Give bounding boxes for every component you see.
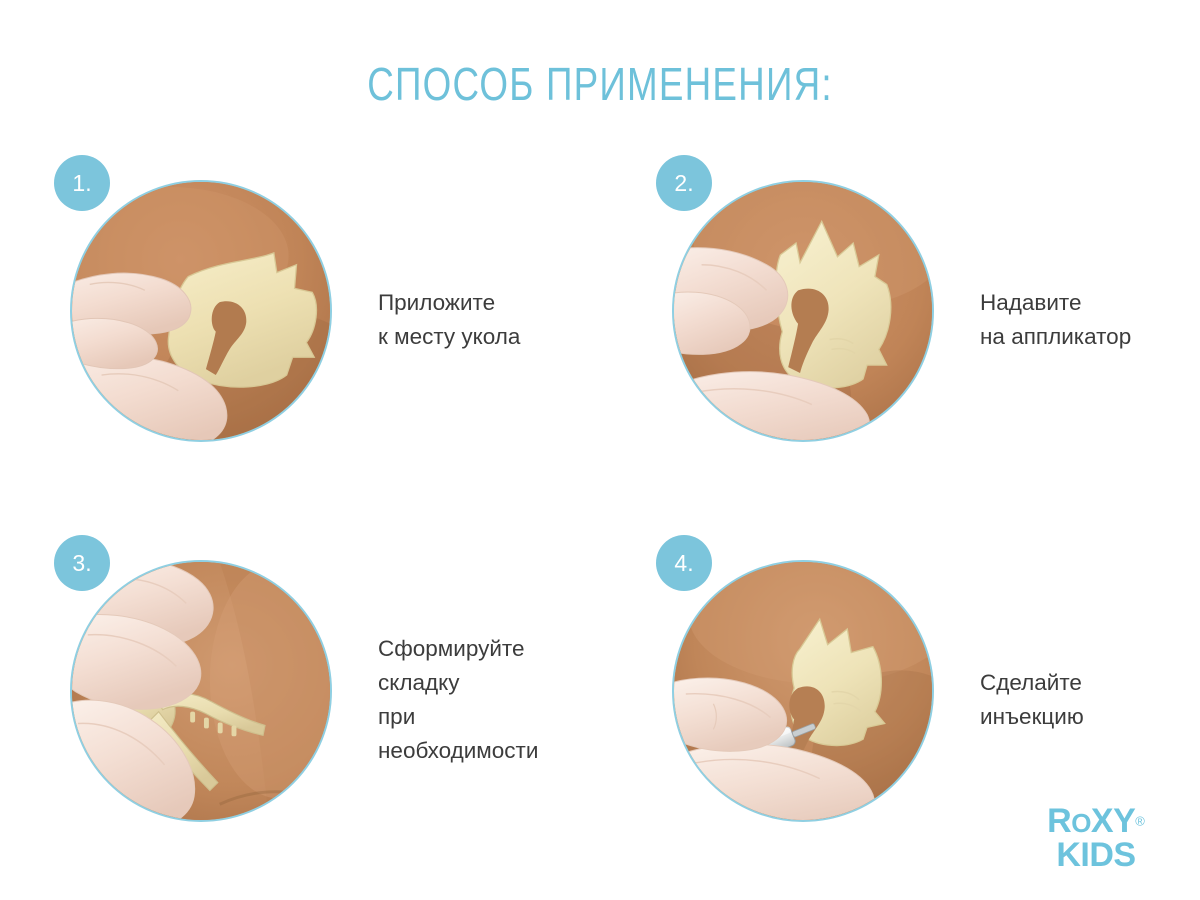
registered-trademark-icon: ®: [1135, 814, 1145, 829]
step-photo-3: [70, 560, 332, 822]
step-caption-3: Сформируйте складку при необходимости: [378, 632, 568, 768]
step-caption-2: Надавите на аппликатор: [980, 286, 1131, 354]
step-photo-2: [672, 180, 934, 442]
step-caption-1: Приложите к месту укола: [378, 286, 520, 354]
step-item-1: 1.: [48, 155, 568, 485]
step-item-2: 2.: [650, 155, 1170, 485]
step-badge-1: 1.: [54, 155, 110, 211]
steps-grid: 1.: [0, 0, 1200, 900]
step-caption-4: Сделайте инъекцию: [980, 666, 1084, 734]
logo-letter-o: O: [1071, 808, 1091, 838]
step-photo-1: [70, 180, 332, 442]
step-badge-2: 2.: [656, 155, 712, 211]
logo-line-roxy: ROXY®: [1022, 805, 1170, 840]
brand-logo: ROXY® KIDS: [1022, 805, 1170, 872]
step-badge-4: 4.: [656, 535, 712, 591]
step-item-3: 3.: [48, 535, 568, 865]
logo-letter-r: R: [1047, 802, 1071, 840]
logo-word-kids: KIDS: [1022, 839, 1170, 872]
logo-letters-xy: XY: [1091, 802, 1135, 840]
logo-word-roxy: ROXY: [1047, 805, 1135, 840]
step-badge-3: 3.: [54, 535, 110, 591]
step-photo-4: [672, 560, 934, 822]
